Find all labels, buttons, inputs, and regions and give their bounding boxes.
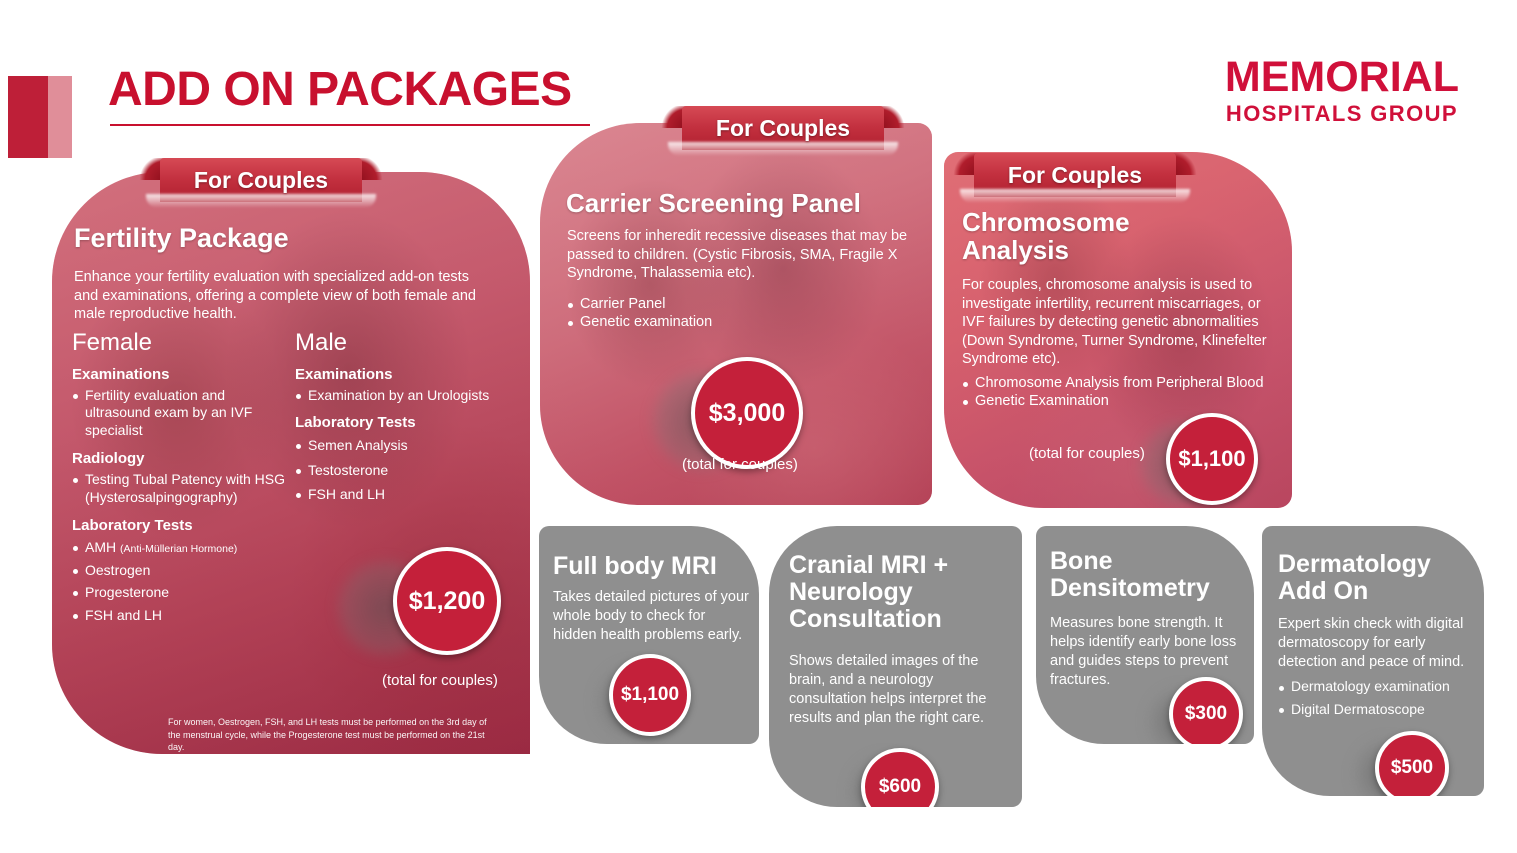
decorative-bar-dark [8,76,48,158]
section-label-examinations-female: Examinations [72,366,287,383]
card-body-cranial-mri: Shows detailed images of the brain, and … [789,652,1011,727]
list-chromosome-items: Chromosome Analysis from Peripheral Bloo… [962,374,1264,410]
price-value: $3,000 [709,399,785,428]
section-label-laboratory-tests-female: Laboratory Tests [72,517,287,534]
card-bone-densitometry[interactable]: Bone Densitometry Measures bone strength… [1036,526,1254,744]
card-fertility-package[interactable]: Fertility Package Enhance your fertility… [52,172,530,754]
list-item: Chromosome Analysis from Peripheral Bloo… [962,374,1264,392]
card-content: Fertility Package Enhance your fertility… [52,172,530,754]
ribbon-for-couples-chromosome: For Couples [952,153,1198,197]
decorative-bar [8,76,72,158]
ribbon-for-couples-fertility: For Couples [138,158,384,202]
list-item: FSH and LH [72,607,287,625]
card-title-dermatology: Dermatology Add On [1278,551,1468,605]
card-title-cranial-mri: Cranial MRI + Neurology Consultation [789,552,994,633]
price-note-fertility: (total for couples) [382,672,498,689]
card-chromosome-analysis[interactable]: Chromosome Analysis For couples, chromos… [944,152,1292,508]
card-content: Chromosome Analysis For couples, chromos… [944,152,1292,508]
price-note-carrier: (total for couples) [682,456,798,473]
price-note-chromosome: (total for couples) [1029,445,1145,462]
ribbon-label: For Couples [660,106,906,150]
card-title-bone-densitometry: Bone Densitometry [1050,548,1245,602]
card-title-fertility: Fertility Package [74,224,289,253]
list-item: Dermatology examination [1278,678,1450,696]
section-label-radiology: Radiology [72,450,287,467]
card-full-body-mri[interactable]: Full body MRI Takes detailed pictures of… [539,526,759,744]
column-female: Female Examinations Fertility evaluation… [72,328,287,624]
list-item: Fertility evaluation and ultrasound exam… [72,387,287,440]
column-heading-male: Male [295,328,515,359]
price-value: $600 [879,776,921,798]
list-radiology: Testing Tubal Patency with HSG (Hysteros… [72,471,287,506]
ribbon-for-couples-carrier: For Couples [660,106,906,150]
list-carrier-items: Carrier Panel Genetic examination [567,295,712,331]
list-item: Progesterone [72,584,287,602]
card-body-dermatology: Expert skin check with digital dermatosc… [1278,615,1474,672]
list-laboratory-tests-female: AMH (Anti-Müllerian Hormone) Oestrogen P… [72,539,287,624]
list-laboratory-tests-male: Semen Analysis Testosterone FSH and LH [295,437,515,504]
list-item: AMH (Anti-Müllerian Hormone) [72,539,287,557]
card-body-full-body-mri: Takes detailed pictures of your whole bo… [553,588,749,645]
card-intro-carrier: Screens for inheredit recessive diseases… [567,227,912,283]
card-title-chromosome: Chromosome Analysis [962,208,1192,264]
list-item: Examination by an Urologists [295,387,515,405]
decorative-bar-light [48,76,72,158]
section-label-examinations-male: Examinations [295,366,515,383]
memorial-logo: MEMORIAL HOSPITALS GROUP [1225,56,1459,127]
card-footnote-fertility: For women, Oestrogen, FSH, and LH tests … [168,716,498,754]
logo-line-hospitals-group: HOSPITALS GROUP [1225,101,1459,127]
amh-parenthetical: (Anti-Müllerian Hormone) [120,543,237,555]
list-item: Digital Dermatoscope [1278,701,1450,719]
list-dermatology-items: Dermatology examination Digital Dermatos… [1278,678,1450,718]
card-title-full-body-mri: Full body MRI [553,553,717,580]
footnote-text: For women, Oestrogen, FSH, and LH tests … [168,717,487,752]
list-item: Genetic Examination [962,392,1264,410]
list-item: Genetic examination [567,313,712,331]
price-badge-bone-densitometry: $300 [1169,677,1243,744]
page-title: ADD ON PACKAGES [108,66,572,114]
card-intro-fertility: Enhance your fertility evaluation with s… [74,268,494,324]
price-value: $1,100 [621,684,679,706]
ribbon-label: For Couples [138,158,384,202]
price-value: $500 [1391,757,1433,779]
list-item: Oestrogen [72,562,287,580]
price-badge-full-body-mri: $1,100 [609,654,691,736]
card-content: Carrier Screening Panel Screens for inhe… [540,123,932,505]
list-examinations-male: Examination by an Urologists [295,387,515,405]
amh-label: AMH [85,539,116,555]
list-item: Carrier Panel [567,295,712,313]
section-label-laboratory-tests-male: Laboratory Tests [295,414,515,431]
card-cranial-mri-neurology[interactable]: Cranial MRI + Neurology Consultation Sho… [769,526,1022,807]
price-badge-fertility: $1,200 [393,547,501,655]
price-value: $1,200 [409,587,485,616]
price-badge-chromosome: $1,100 [1166,413,1258,505]
card-dermatology-add-on[interactable]: Dermatology Add On Expert skin check wit… [1262,526,1484,796]
list-examinations-female: Fertility evaluation and ultrasound exam… [72,387,287,440]
price-value: $1,100 [1178,446,1245,472]
title-underline [110,124,590,126]
price-badge-carrier: $3,000 [691,357,803,469]
logo-line-memorial: MEMORIAL [1225,56,1459,99]
list-item: FSH and LH [295,486,515,504]
price-badge-dermatology: $500 [1375,731,1449,796]
list-item: Testing Tubal Patency with HSG (Hysteros… [72,471,287,506]
list-item: Semen Analysis [295,437,515,455]
card-intro-chromosome: For couples, chromosome analysis is used… [962,276,1272,369]
card-carrier-screening-panel[interactable]: Carrier Screening Panel Screens for inhe… [540,123,932,505]
column-male: Male Examinations Examination by an Urol… [295,328,515,504]
ribbon-label: For Couples [952,153,1198,197]
price-value: $300 [1185,703,1227,725]
card-title-carrier: Carrier Screening Panel [566,189,861,217]
column-heading-female: Female [72,328,287,359]
list-item: Testosterone [295,462,515,480]
